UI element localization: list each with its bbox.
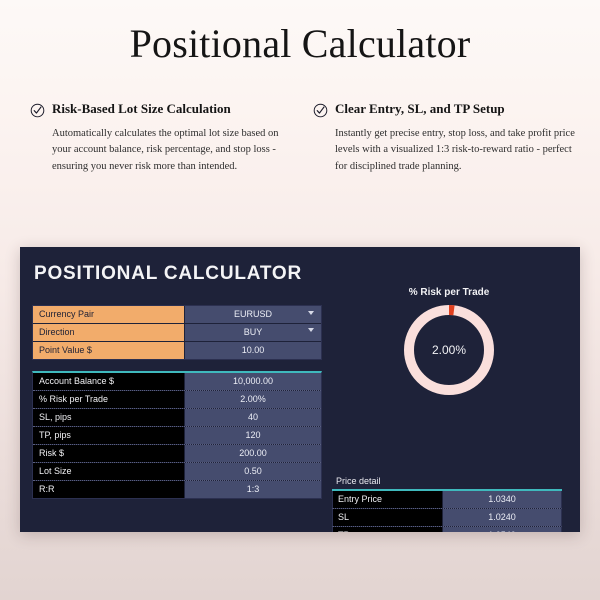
chevron-down-icon[interactable] [308,311,314,315]
metric-value: 200.00 [185,445,321,462]
input-row-direction[interactable]: Direction BUY [33,324,321,342]
feature-title: Clear Entry, SL, and TP Setup [335,102,505,117]
calculator-panel: POSITIONAL CALCULATOR Currency Pair EURU… [20,247,580,532]
feature-description: Automatically calculates the optimal lot… [52,126,295,175]
metric-label: Lot Size [33,463,185,480]
feature-list: Risk-Based Lot Size Calculation Automati… [30,102,578,175]
feature-description: Instantly get precise entry, stop loss, … [335,126,578,175]
calculator-left-column: Currency Pair EURUSD Direction BUY Point… [32,305,322,499]
feature-item: Clear Entry, SL, and TP Setup Instantly … [313,102,578,175]
feature-heading-row: Clear Entry, SL, and TP Setup [313,102,578,118]
input-value[interactable]: EURUSD [185,306,321,323]
feature-title: Risk-Based Lot Size Calculation [52,102,231,117]
input-row-currency-pair[interactable]: Currency Pair EURUSD [33,306,321,324]
panel-title: POSITIONAL CALCULATOR [34,263,580,285]
circled-check-icon [313,103,328,118]
price-detail-heading: Price detail [332,475,562,491]
table-row: Lot Size 0.50 [33,463,321,481]
metric-label: R:R [33,481,185,498]
input-value[interactable]: BUY [185,324,321,341]
table-row: Account Balance $ 10,000.00 [33,373,321,391]
input-label: Point Value $ [33,342,185,359]
metric-label: Risk $ [33,445,185,462]
metric-label: Account Balance $ [33,373,185,390]
metric-value: 0.50 [185,463,321,480]
chevron-down-icon[interactable] [308,328,314,332]
table-row: Entry Price 1.0340 [332,491,562,509]
table-row: % Risk per Trade 2.00% [33,391,321,409]
feature-item: Risk-Based Lot Size Calculation Automati… [30,102,295,175]
input-row-point-value[interactable]: Point Value $ 10.00 [33,342,321,359]
metric-value: 1:3 [185,481,321,498]
table-row: TP 1.0540 [332,527,562,532]
metric-value[interactable]: 40 [185,409,321,426]
metric-label: % Risk per Trade [33,391,185,408]
metric-value[interactable]: 120 [185,427,321,444]
price-label: SL [333,509,443,526]
input-label: Currency Pair [33,306,185,323]
metric-label: SL, pips [33,409,185,426]
metrics-table: Account Balance $ 10,000.00 % Risk per T… [32,371,322,499]
calculator-right-column: % Risk per Trade 2.00% Price detail Entr… [330,287,568,442]
input-value[interactable]: 10.00 [185,342,321,359]
input-label: Direction [33,324,185,341]
circled-check-icon [30,103,45,118]
table-row: SL, pips 40 [33,409,321,427]
hero-section: Positional Calculator [0,0,600,66]
metric-value[interactable]: 10,000.00 [185,373,321,390]
table-row: TP, pips 120 [33,427,321,445]
price-value: 1.0240 [443,509,561,526]
price-label: Entry Price [333,491,443,508]
price-value: 1.0540 [443,527,561,532]
page-title: Positional Calculator [0,22,600,66]
table-row: R:R 1:3 [33,481,321,498]
chart-title: % Risk per Trade [330,287,568,298]
price-value[interactable]: 1.0340 [443,491,561,508]
input-fields-group: Currency Pair EURUSD Direction BUY Point… [32,305,322,360]
feature-heading-row: Risk-Based Lot Size Calculation [30,102,295,118]
risk-donut-chart: % Risk per Trade 2.00% [330,287,568,442]
table-row: Risk $ 200.00 [33,445,321,463]
donut-graphic: 2.00% [403,304,495,396]
metric-value[interactable]: 2.00% [185,391,321,408]
table-row: SL 1.0240 [332,509,562,527]
donut-center-value: 2.00% [403,343,495,357]
metric-label: TP, pips [33,427,185,444]
price-label: TP [333,527,443,532]
price-detail-table: Price detail Entry Price 1.0340 SL 1.024… [332,475,562,532]
